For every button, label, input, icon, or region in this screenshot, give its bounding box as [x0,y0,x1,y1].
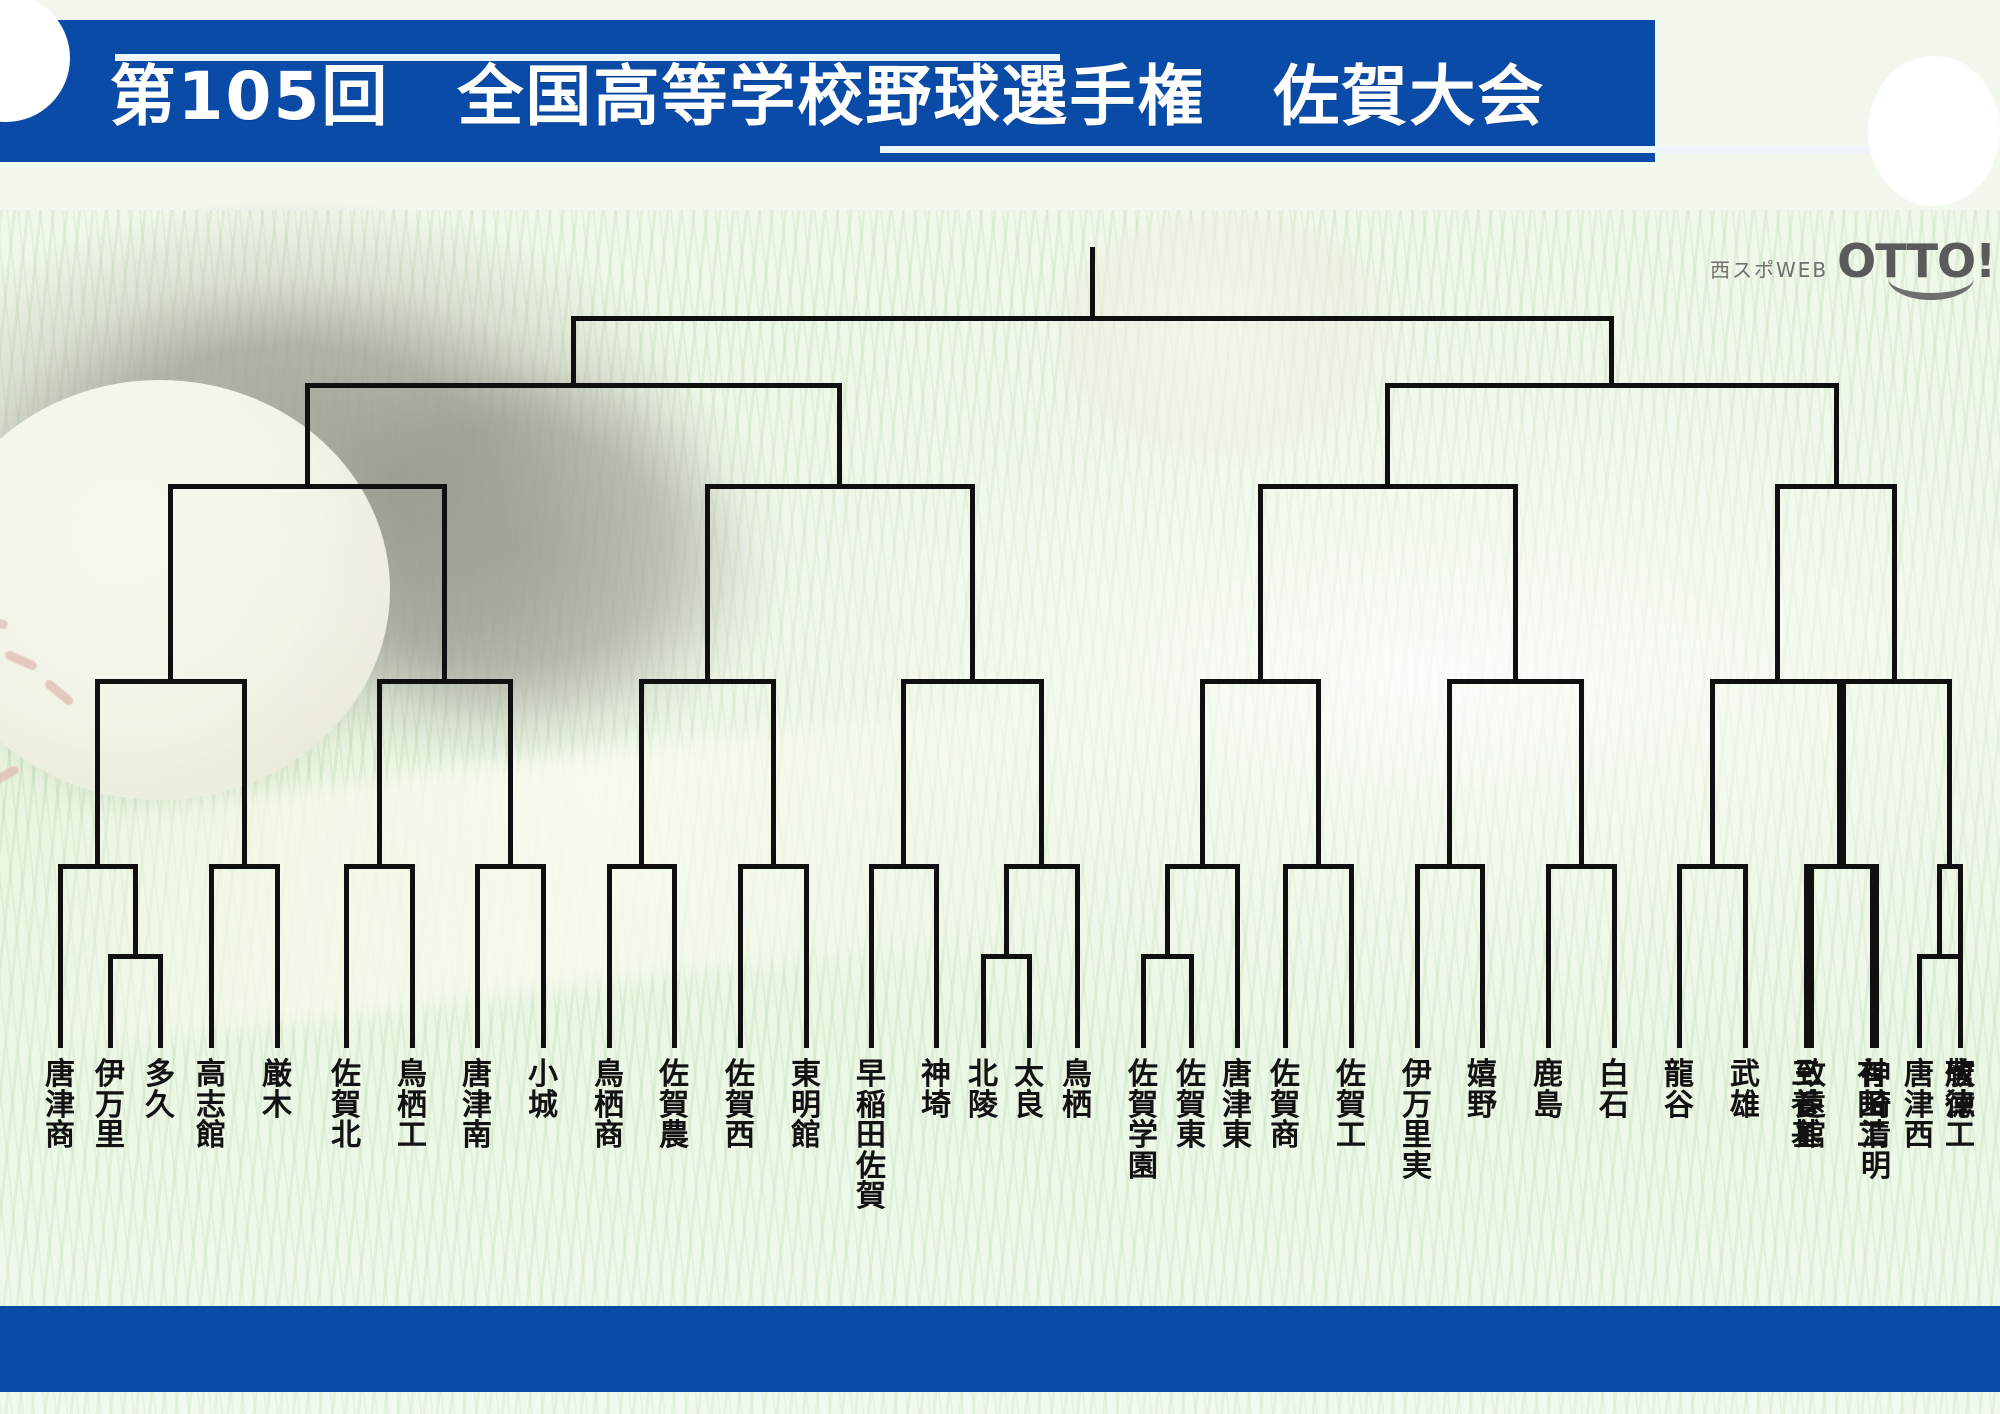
bracket-stem [410,866,415,1048]
bracket-stem [738,866,743,1048]
team-label-char: 龍 [1656,1060,1702,1091]
team-label: 佐賀東 [1168,1060,1214,1152]
team-label: 鳥栖工 [389,1060,435,1152]
team-label-char: 東 [1168,1121,1214,1152]
bracket-stem [1283,866,1288,1048]
team-label-char: 厳 [254,1060,300,1091]
team-label: 白石 [1591,1060,1637,1121]
team-label-char: 西 [1896,1121,1942,1152]
bracket-link [1609,318,1614,385]
team-label: 佐賀北 [323,1060,369,1152]
team-label: 太良 [1006,1060,1052,1121]
team-label-char: 稲 [848,1091,894,1122]
team-label-char: 賀 [323,1091,369,1122]
team-label-char: 栖 [1054,1091,1100,1122]
team-label-char: 良 [1006,1091,1052,1122]
team-label-char: 伊 [1394,1060,1440,1091]
team-label-char: 賀 [717,1091,763,1122]
team-label-char: 太 [1006,1060,1052,1091]
bracket-stem [541,866,546,1048]
team-label: 唐津東 [1214,1060,1260,1152]
bracket-stem [1546,866,1551,1048]
team-label-char: 津 [1896,1091,1942,1122]
team-label-char: 賀 [1168,1091,1214,1122]
team-label-char: 万 [1394,1091,1440,1122]
bracket-link [168,486,173,681]
bracket-link [305,385,310,486]
bracket-link [1200,681,1205,866]
team-label-char: 明 [1853,1152,1899,1183]
bracket-link [1947,681,1952,866]
bracket-stem [1349,866,1354,1048]
team-label: 佐賀商 [1262,1060,1308,1152]
team-label-char: 有 [1849,1060,1895,1091]
team-label-char: 鹿 [1525,1060,1571,1091]
page-title: 第105回 全国高等学校野球選手権 佐賀大会 [0,20,1655,162]
team-label-char: 唐 [37,1060,83,1091]
team-label-char: 館 [783,1121,829,1152]
team-label-char: 嬉 [1459,1060,1505,1091]
bracket-link [1775,486,1780,681]
team-label-char: 商 [586,1121,632,1152]
team-label: 敬徳 [1937,1060,1983,1121]
team-label-char: 津 [454,1091,500,1122]
team-label: 唐津南 [454,1060,500,1152]
team-label-char: 養 [1783,1091,1829,1122]
team-label-char: 武 [1722,1060,1768,1091]
team-label: 有田工 [1849,1060,1895,1152]
bracket-stem [981,956,986,1048]
team-label: 佐賀農 [651,1060,697,1152]
bracket-link [771,681,776,866]
bracket-link [901,681,906,866]
team-label: 神埼 [913,1060,959,1121]
team-label: 伊万里 [87,1060,133,1152]
team-label: 北陵 [960,1060,1006,1121]
team-label-char: 佐 [1168,1060,1214,1091]
bracket-stem [934,866,939,1048]
bracket-stem [209,866,214,1048]
team-label-char: 島 [1525,1091,1571,1122]
team-label-char: 唐 [1896,1060,1942,1091]
team-label: 佐賀学園 [1120,1060,1166,1182]
team-label-char: 万 [87,1091,133,1122]
bracket-stem [158,956,163,1048]
team-label-char: 工 [1849,1121,1895,1152]
team-label-char: 基 [1783,1121,1829,1152]
team-label-char: 佐 [1262,1060,1308,1091]
team-label: 佐賀工 [1328,1060,1374,1152]
team-label-char: 賀 [848,1182,894,1213]
team-label-char: 高 [188,1060,234,1091]
team-label-char: 商 [37,1121,83,1152]
bracket-stem [869,866,874,1048]
bracket-link [1710,681,1715,866]
bracket-link [1258,486,1263,681]
team-label-char: 工 [1328,1121,1374,1152]
team-label-char: 雄 [1722,1091,1768,1122]
team-label-char: 陵 [960,1091,1006,1122]
team-label-char: 鳥 [586,1060,632,1091]
team-label: 唐津商 [37,1060,83,1152]
team-label: 小城 [520,1060,566,1121]
team-label: 嬉野 [1459,1060,1505,1121]
team-label-char: 城 [520,1091,566,1122]
bracket-stem [1612,866,1617,1048]
team-label: 東明館 [783,1060,829,1152]
team-label-char: 志 [188,1091,234,1122]
bracket-link [970,486,975,681]
team-label-char: 園 [1120,1152,1166,1183]
team-label-char: 賀 [1120,1091,1166,1122]
bracket-link [837,385,842,486]
bracket-link [1513,486,1518,681]
team-label: 鳥栖商 [586,1060,632,1152]
team-label-char: 館 [188,1121,234,1152]
team-label-char: 西 [717,1121,763,1152]
team-label-char: 里 [87,1121,133,1152]
team-label-char: 賀 [1328,1091,1374,1122]
bracket-diagram: 唐津商伊万里多久高志館厳木佐賀北鳥栖工唐津南小城鳥栖商佐賀農佐賀西東明館早稲田佐… [0,210,2000,1310]
bracket-stem [1804,866,1809,1048]
bracket-stem [1415,866,1420,1048]
bracket-link [571,318,576,385]
bracket-stem [1809,866,1814,1048]
team-label: 龍谷 [1656,1060,1702,1121]
team-label-char: 多 [137,1060,183,1091]
bracket-stem [672,866,677,1048]
team-label-char: 佐 [1120,1060,1166,1091]
team-label-char: 農 [651,1121,697,1152]
team-label-char: 埼 [913,1091,959,1122]
team-label: 伊万里実 [1394,1060,1440,1182]
team-label: 早稲田佐賀 [848,1060,894,1213]
bracket-link [1385,385,1390,486]
bracket-stem [1235,866,1240,1048]
bracket-stem [1958,866,1963,1048]
bracket-stem [344,866,349,1048]
tournament-bracket-page: 第105回 全国高等学校野球選手権 佐賀大会 西スポWEB OTTO! 唐津商伊… [0,0,2000,1414]
team-label-char: 佐 [1328,1060,1374,1091]
header-notch-right [1868,56,2000,206]
team-label-char: 田 [848,1121,894,1152]
team-label-char: 津 [37,1091,83,1122]
bracket-link [639,681,644,866]
team-label: 佐賀西 [717,1060,763,1152]
bracket-link [442,486,447,681]
bracket-stem [1937,866,1942,956]
bracket-link [1892,486,1897,681]
team-label-char: 鳥 [389,1060,435,1091]
team-label-char: 里 [1394,1121,1440,1152]
team-label-char: 北 [960,1060,1006,1091]
bracket-link [508,681,513,866]
team-label-char: 佐 [717,1060,763,1091]
bracket-stem [1165,866,1170,956]
team-label-char: 谷 [1656,1091,1702,1122]
team-label-char: 実 [1394,1152,1440,1183]
bracket-link [1039,681,1044,866]
bracket-link [705,486,710,681]
team-label-char: 東 [783,1060,829,1091]
bracket-stem [1870,866,1875,1048]
bracket-stem [1743,866,1748,1048]
bracket-link [1841,681,1846,866]
team-label-char: 明 [783,1091,829,1122]
bracket-link [95,681,100,866]
team-label: 鹿島 [1525,1060,1571,1121]
team-label-char: 栖 [389,1091,435,1122]
team-label-char: 佐 [651,1060,697,1091]
team-label-char: 三 [1783,1060,1829,1091]
bracket-stem [804,866,809,1048]
bracket-stem [1917,956,1922,1048]
team-label-char: 工 [1937,1121,1983,1152]
team-label-char: 津 [1214,1091,1260,1122]
bracket-champion-stem [1090,247,1095,318]
team-label-char: 野 [1459,1091,1505,1122]
bracket-stem [607,866,612,1048]
bracket-link [1834,385,1839,486]
team-label: 厳木 [254,1060,300,1121]
bracket-stem [1075,866,1080,1048]
bracket-stem [108,956,113,1048]
team-label-char: 佐 [848,1152,894,1183]
team-label-char: 木 [254,1091,300,1122]
bracket-link [1579,681,1584,866]
bracket-stem [1027,956,1032,1048]
team-label-char: 小 [520,1060,566,1091]
team-label: 高志館 [188,1060,234,1152]
team-label-char: 佐 [323,1060,369,1091]
team-label: 鳥栖 [1054,1060,1100,1121]
bracket-stem [475,866,480,1048]
team-label-char: 唐 [454,1060,500,1091]
bracket-link [242,681,247,866]
team-label-char: 久 [137,1091,183,1122]
bracket-stem [133,866,138,956]
bracket-stem [1189,956,1194,1048]
team-label: 三養基 [1783,1060,1829,1152]
team-label-char: 学 [1120,1121,1166,1152]
team-label-char: 田 [1849,1091,1895,1122]
team-label-char: 工 [389,1121,435,1152]
team-label-char: 賀 [1262,1091,1308,1122]
team-label-char: 伊 [87,1060,133,1091]
bracket-link [1447,681,1452,866]
team-label-char: 神 [913,1060,959,1091]
bracket-link [1837,681,1842,866]
bracket-stem [275,866,280,1048]
team-label: 唐津西 [1896,1060,1942,1152]
team-label-char: 敬 [1937,1060,1983,1091]
team-label: 多久 [137,1060,183,1121]
bracket-link [377,681,382,866]
bracket-stem [1004,866,1009,956]
team-label-char: 唐 [1214,1060,1260,1091]
team-label-char: 石 [1591,1091,1637,1122]
team-label-char: 早 [848,1060,894,1091]
team-label-char: 白 [1591,1060,1637,1091]
bracket-stem [1141,956,1146,1048]
team-label-char: 東 [1214,1121,1260,1152]
bracket-link [1316,681,1321,866]
bracket-stem [1480,866,1485,1048]
footer-band [0,1306,2000,1392]
team-label-char: 北 [323,1121,369,1152]
bracket-stem [58,866,63,1048]
team-label-char: 徳 [1937,1091,1983,1122]
team-label-char: 南 [454,1121,500,1152]
bracket-stem [1677,866,1682,1048]
team-label-char: 商 [1262,1121,1308,1152]
team-label-char: 栖 [586,1091,632,1122]
team-label: 武雄 [1722,1060,1768,1121]
team-label-char: 鳥 [1054,1060,1100,1091]
team-label-char: 賀 [651,1091,697,1122]
